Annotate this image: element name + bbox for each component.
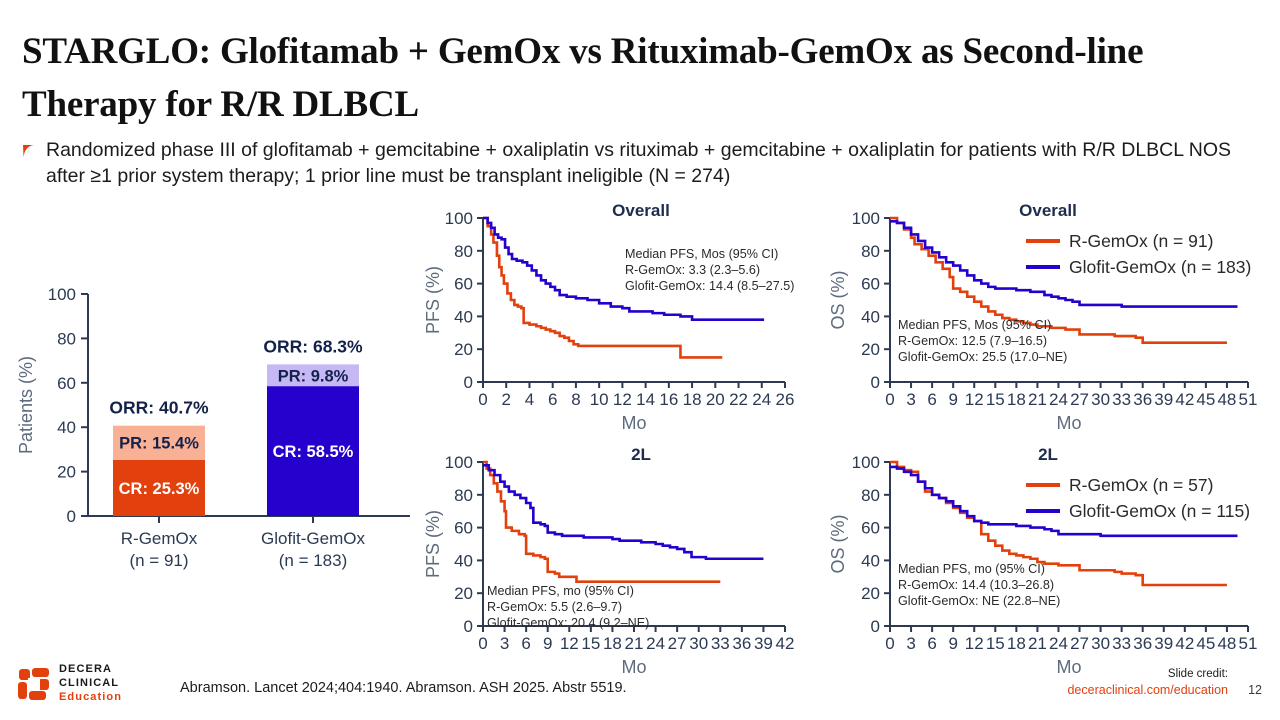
x-tick-label-24: 24 — [1049, 634, 1068, 653]
x-tick-label-2: 2 — [501, 390, 510, 409]
footer: DECERA CLINICAL Education Abramson. Lanc… — [0, 655, 1280, 720]
x-tick-label-36: 36 — [732, 634, 751, 653]
y-tick-label-80: 80 — [861, 242, 880, 261]
bar-y-axis-title: Patients (%) — [16, 356, 36, 454]
x-tick-label-39: 39 — [1154, 634, 1173, 653]
y-tick-label-0: 0 — [67, 507, 76, 526]
x-tick-label-18: 18 — [683, 390, 702, 409]
x-tick-label-24: 24 — [646, 634, 665, 653]
x-tick-label-48: 48 — [1217, 634, 1236, 653]
km-x-axis-title: Mo — [621, 413, 646, 433]
km-axes — [483, 218, 785, 382]
os-2l-chart: 2L02040608010003691215182124273033363942… — [828, 440, 1278, 685]
x-tick-label-6: 6 — [927, 390, 936, 409]
panel-title: Overall — [1019, 201, 1077, 220]
x-tick-label-33: 33 — [1112, 390, 1131, 409]
x-tick-label-21: 21 — [625, 634, 644, 653]
x-tick-label-21: 21 — [1028, 390, 1047, 409]
brand-logo: DECERA CLINICAL Education — [18, 663, 122, 705]
x-tick-label-27: 27 — [668, 634, 687, 653]
os-overall-svg: Overall020406080100036912151821242730333… — [828, 196, 1278, 441]
y-tick-label-20: 20 — [454, 340, 473, 359]
x-tick-label-12: 12 — [613, 390, 632, 409]
km-annotation-line: Median PFS, Mos (95% CI) — [898, 318, 1051, 332]
x-tick-label-33: 33 — [711, 634, 730, 653]
triangle-bullet-icon — [22, 143, 36, 161]
km-annotation-line: Glofit-GemOx: 14.4 (8.5–27.5) — [625, 279, 794, 293]
bar-orr-label: ORR: 40.7% — [109, 398, 209, 418]
km-y-axis-title: OS (%) — [828, 514, 848, 573]
y-tick-label-80: 80 — [861, 486, 880, 505]
x-tick-label-39: 39 — [1154, 390, 1173, 409]
x-tick-label-8: 8 — [571, 390, 580, 409]
x-tick-label-42: 42 — [1175, 390, 1194, 409]
km-annotation-line: Median PFS, mo (95% CI) — [898, 562, 1045, 576]
x-tick-label-20: 20 — [706, 390, 725, 409]
km-annotation-line: R-GemOx: 14.4 (10.3–26.8) — [898, 578, 1054, 592]
km-annotation-line: Glofit-GemOx: NE (22.8–NE) — [898, 594, 1060, 608]
y-tick-label-0: 0 — [871, 373, 880, 392]
x-tick-label-4: 4 — [525, 390, 534, 409]
logo-line-2: CLINICAL — [59, 677, 122, 691]
pfs-overall-svg: Overall020406080100024681012141618202224… — [425, 196, 815, 441]
y-tick-label-3: 60 — [57, 374, 76, 393]
km-x-axis-title: Mo — [1056, 413, 1081, 433]
x-tick-label-15: 15 — [986, 634, 1005, 653]
y-tick-label-60: 60 — [861, 275, 880, 294]
y-tick-label-0: 0 — [464, 373, 473, 392]
bar-category-label: (n = 183) — [279, 551, 348, 570]
km-annotation-line: R-GemOx: 3.3 (2.3–5.6) — [625, 263, 760, 277]
y-tick-label-40: 40 — [861, 307, 880, 326]
subtitle-row: Randomized phase III of glofitamab + gem… — [22, 138, 1237, 189]
x-tick-label-30: 30 — [689, 634, 708, 653]
slide-root: STARGLO: Glofitamab + GemOx vs Rituximab… — [0, 0, 1280, 720]
y-tick-label-5: 100 — [48, 285, 76, 304]
y-tick-label-80: 80 — [454, 242, 473, 261]
x-tick-label-14: 14 — [636, 390, 655, 409]
y-tick-label-100: 100 — [852, 453, 880, 472]
x-tick-label-48: 48 — [1217, 390, 1236, 409]
x-tick-label-18: 18 — [1007, 390, 1026, 409]
y-tick-label-60: 60 — [454, 519, 473, 538]
slide-credit-url[interactable]: deceraclinical.com/education — [1067, 682, 1228, 698]
bar-category-label: (n = 91) — [129, 551, 188, 570]
y-tick-label-0: 0 — [871, 617, 880, 636]
x-tick-label-18: 18 — [603, 634, 622, 653]
panel-title: 2L — [1038, 445, 1058, 464]
y-tick-label-40: 40 — [454, 551, 473, 570]
km-curve-r-gemox — [483, 462, 720, 582]
x-tick-label-45: 45 — [1196, 390, 1215, 409]
x-tick-label-36: 36 — [1133, 390, 1152, 409]
km-y-axis-title: OS (%) — [828, 270, 848, 329]
x-tick-label-0: 0 — [478, 634, 487, 653]
x-tick-label-9: 9 — [948, 634, 957, 653]
y-tick-label-20: 20 — [861, 584, 880, 603]
km-annotation-line: R-GemOx: 5.5 (2.6–9.7) — [487, 600, 622, 614]
x-tick-label-3: 3 — [906, 634, 915, 653]
y-tick-label-40: 40 — [454, 307, 473, 326]
response-bar-svg: 020406080100Patients (%)CR: 25.3%PR: 15.… — [10, 282, 420, 572]
x-tick-label-15: 15 — [581, 634, 600, 653]
x-tick-label-42: 42 — [776, 634, 795, 653]
x-tick-label-18: 18 — [1007, 634, 1026, 653]
x-tick-label-3: 3 — [906, 390, 915, 409]
slide-credit-caption: Slide credit: — [1067, 667, 1228, 682]
y-tick-label-80: 80 — [454, 486, 473, 505]
pfs-2l-svg: 2L02040608010003691215182124273033363942… — [425, 440, 815, 685]
legend-label: R-GemOx (n = 91) — [1069, 231, 1213, 251]
subtitle-text: Randomized phase III of glofitamab + gem… — [46, 138, 1237, 189]
x-tick-label-21: 21 — [1028, 634, 1047, 653]
x-tick-label-45: 45 — [1196, 634, 1215, 653]
citation-text: Abramson. Lancet 2024;404:1940. Abramson… — [180, 680, 627, 696]
x-tick-label-30: 30 — [1091, 390, 1110, 409]
response-bar-chart: 020406080100Patients (%)CR: 25.3%PR: 15.… — [10, 282, 420, 572]
x-tick-label-26: 26 — [776, 390, 795, 409]
x-tick-label-3: 3 — [500, 634, 509, 653]
logo-line-3: Education — [59, 691, 122, 705]
x-tick-label-0: 0 — [478, 390, 487, 409]
y-tick-label-0: 0 — [464, 617, 473, 636]
km-annotation-line: Glofit-GemOx: 25.5 (17.0–NE) — [898, 350, 1067, 364]
bar-pr-label: PR: 15.4% — [119, 435, 199, 453]
decera-logo-icon — [18, 668, 50, 700]
y-tick-label-40: 40 — [861, 551, 880, 570]
km-annotation-line: R-GemOx: 12.5 (7.9–16.5) — [898, 334, 1047, 348]
x-tick-label-15: 15 — [986, 390, 1005, 409]
legend-label: Glofit-GemOx (n = 183) — [1069, 257, 1251, 277]
x-tick-label-36: 36 — [1133, 634, 1152, 653]
x-tick-label-51: 51 — [1239, 390, 1258, 409]
logo-line-1: DECERA — [59, 663, 122, 677]
os-2l-svg: 2L02040608010003691215182124273033363942… — [828, 440, 1278, 685]
bar-cr-label: CR: 58.5% — [273, 443, 354, 461]
x-tick-label-6: 6 — [521, 634, 530, 653]
x-tick-label-12: 12 — [965, 390, 984, 409]
pfs-2l-chart: 2L02040608010003691215182124273033363942… — [425, 440, 815, 685]
km-y-axis-title: PFS (%) — [423, 510, 443, 578]
x-tick-label-0: 0 — [885, 634, 894, 653]
x-tick-label-27: 27 — [1070, 390, 1089, 409]
y-tick-label-1: 20 — [57, 463, 76, 482]
legend-label: Glofit-GemOx (n = 115) — [1069, 501, 1250, 521]
x-tick-label-9: 9 — [948, 390, 957, 409]
pfs-overall-chart: Overall020406080100024681012141618202224… — [425, 196, 815, 441]
x-tick-label-39: 39 — [754, 634, 773, 653]
bar-cr-label: CR: 25.3% — [119, 480, 200, 498]
x-tick-label-9: 9 — [543, 634, 552, 653]
bar-orr-label: ORR: 68.3% — [263, 336, 363, 356]
page-title: STARGLO: Glofitamab + GemOx vs Rituximab… — [22, 26, 1172, 131]
x-tick-label-33: 33 — [1112, 634, 1131, 653]
km-y-axis-title: PFS (%) — [423, 266, 443, 334]
bar-category-label: R-GemOx — [121, 529, 198, 548]
x-tick-label-30: 30 — [1091, 634, 1110, 653]
km-annotation-line: Median PFS, mo (95% CI) — [487, 584, 634, 598]
slide-credit: Slide credit: deceraclinical.com/educati… — [1067, 667, 1228, 698]
x-tick-label-22: 22 — [729, 390, 748, 409]
legend-label: R-GemOx (n = 57) — [1069, 475, 1213, 495]
km-annotation-line: Glofit-GemOx: 20.4 (9.2–NE) — [487, 616, 649, 630]
os-overall-chart: Overall020406080100036912151821242730333… — [828, 196, 1278, 441]
y-tick-label-100: 100 — [445, 453, 473, 472]
km-annotation-line: Median PFS, Mos (95% CI) — [625, 247, 778, 261]
x-tick-label-6: 6 — [927, 634, 936, 653]
y-tick-label-20: 20 — [454, 584, 473, 603]
y-tick-label-100: 100 — [852, 209, 880, 228]
x-tick-label-27: 27 — [1070, 634, 1089, 653]
y-tick-label-20: 20 — [861, 340, 880, 359]
x-tick-label-10: 10 — [590, 390, 609, 409]
panel-title: 2L — [631, 445, 651, 464]
y-tick-label-100: 100 — [445, 209, 473, 228]
x-tick-label-42: 42 — [1175, 634, 1194, 653]
y-tick-label-60: 60 — [861, 519, 880, 538]
y-tick-label-2: 40 — [57, 418, 76, 437]
x-tick-label-6: 6 — [548, 390, 557, 409]
x-tick-label-51: 51 — [1239, 634, 1258, 653]
x-tick-label-12: 12 — [560, 634, 579, 653]
page-number: 12 — [1248, 683, 1262, 697]
y-tick-label-60: 60 — [454, 275, 473, 294]
logo-wordmark: DECERA CLINICAL Education — [59, 663, 122, 705]
bar-pr-label: PR: 9.8% — [278, 367, 349, 385]
x-tick-label-16: 16 — [659, 390, 678, 409]
x-tick-label-12: 12 — [965, 634, 984, 653]
x-tick-label-24: 24 — [752, 390, 771, 409]
panel-title: Overall — [612, 201, 670, 220]
x-tick-label-24: 24 — [1049, 390, 1068, 409]
bar-category-label: Glofit-GemOx — [261, 529, 365, 548]
y-tick-label-4: 80 — [57, 329, 76, 348]
x-tick-label-0: 0 — [885, 390, 894, 409]
